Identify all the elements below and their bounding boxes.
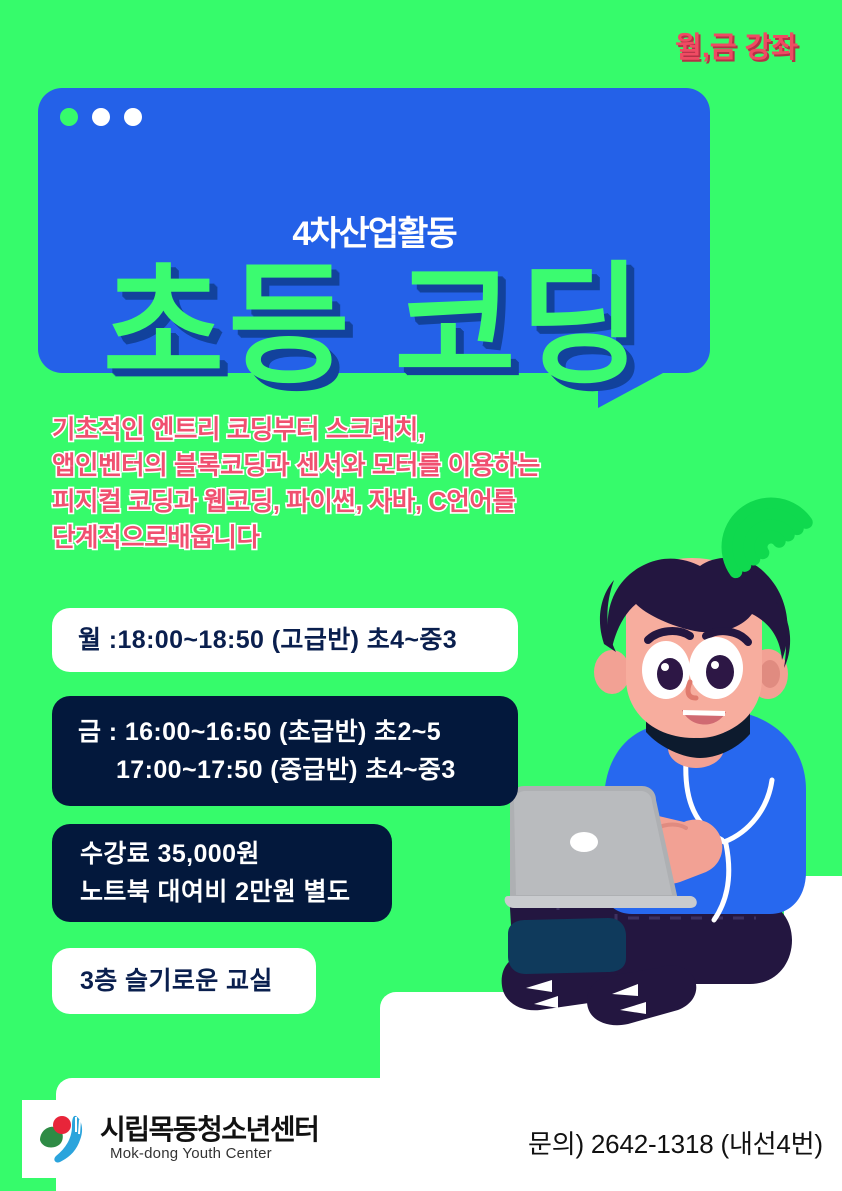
wifi-icon <box>706 452 836 582</box>
contact-text: 문의) 2642-1318 (내선4번) <box>528 1124 823 1161</box>
boy-with-laptop-illustration <box>500 552 842 1052</box>
room-box: 3층 슬기로운 교실 <box>52 948 316 1014</box>
schedule-box-monday: 월 :18:00~18:50 (고급반) 초4~중3 <box>52 608 518 672</box>
poster-canvas: 월,금 강좌 4차산업활동 초등 코딩 기초적인 엔트리 코딩부터 스크래치, … <box>0 0 842 1191</box>
description-line: 앱인벤터의 블록코딩과 센서와 모터를 이용하는 <box>52 448 612 484</box>
logo-text-block: 시립목동청소년센터 Mok-dong Youth Center <box>100 1115 318 1162</box>
logo-english-name: Mok-dong Youth Center <box>100 1145 318 1163</box>
white-dot-icon-2 <box>124 108 142 126</box>
description-line: 기초적인 엔트리 코딩부터 스크래치, <box>52 412 612 448</box>
window-dots <box>60 108 142 126</box>
logo-korean-name: 시립목동청소년센터 <box>100 1115 318 1144</box>
schedule-box-friday: 금 : 16:00~16:50 (초급반) 초2~5 17:00~17:50 (… <box>52 696 518 806</box>
youth-center-logo-icon <box>36 1110 90 1168</box>
speech-bubble: 4차산업활동 초등 코딩 <box>38 88 710 373</box>
organization-logo: 시립목동청소년센터 Mok-dong Youth Center <box>22 1100 340 1178</box>
description-line: 피지컬 코딩과 웹코딩, 파이썬, 자바, C언어를 <box>52 484 612 520</box>
fee-line: 수강료 35,000원 <box>80 835 364 873</box>
green-dot-icon <box>60 108 78 126</box>
white-dot-icon-1 <box>92 108 110 126</box>
fee-line: 노트북 대여비 2만원 별도 <box>80 873 364 911</box>
schedule-line: 17:00~17:50 (중급반) 초4~중3 <box>78 751 492 789</box>
fee-box: 수강료 35,000원 노트북 대여비 2만원 별도 <box>52 824 392 922</box>
room-line: 3층 슬기로운 교실 <box>80 962 288 1000</box>
schedule-line: 월 :18:00~18:50 (고급반) 초4~중3 <box>78 621 492 659</box>
schedule-line: 금 : 16:00~16:50 (초급반) 초2~5 <box>78 713 492 751</box>
course-subtitle: 4차산업활동 <box>38 206 710 255</box>
kicker-text: 월,금 강좌 <box>675 24 798 66</box>
description-line: 단계적으로배웁니다 <box>52 520 612 556</box>
description-block: 기초적인 엔트리 코딩부터 스크래치, 앱인벤터의 블록코딩과 센서와 모터를 … <box>52 412 612 556</box>
course-title: 초등 코딩 <box>38 260 710 392</box>
